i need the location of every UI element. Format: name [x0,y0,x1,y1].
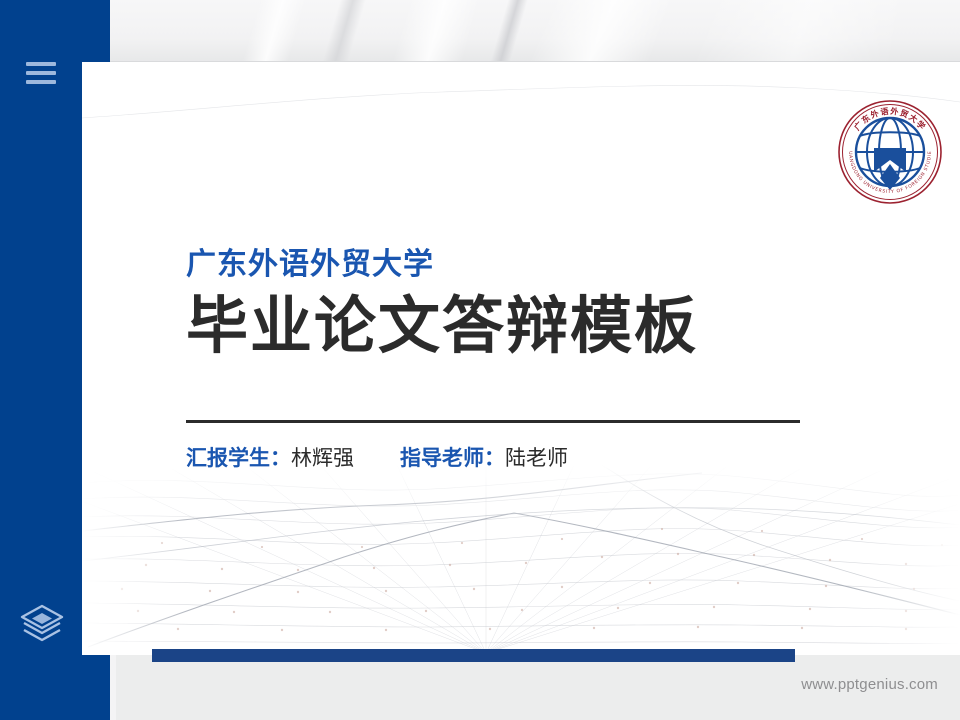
hamburger-bar [26,71,56,75]
wireframe-mesh-decoration [82,465,960,655]
hamburger-bar [26,62,56,66]
layers-stack-icon[interactable] [18,602,66,646]
student-name: 林辉强 [291,446,354,470]
bottom-accent-bar [152,649,795,662]
student-label: 汇报学生： [186,446,291,470]
footer-url: www.pptgenius.com [801,676,938,693]
page-title: 毕业论文答辩模板 [186,291,886,360]
advisor-name: 陆老师 [505,446,568,470]
title-text-block: 广东外语外贸大学 毕业论文答辩模板 [186,248,886,360]
title-divider-rule [186,420,800,423]
advisor-label: 指导老师： [400,446,505,470]
wireframe-mesh-upper [82,62,960,128]
top-gradient-band [0,0,960,62]
university-name: 广东外语外贸大学 [186,248,886,283]
presenter-info: 汇报学生：林辉强指导老师：陆老师 [186,444,568,473]
hamburger-menu-icon[interactable] [26,62,56,86]
hamburger-bar [26,80,56,84]
university-logo: 广东外语外贸大学 GUANGDONG UNIVERSITY OF FOREIGN… [836,98,944,206]
slide-canvas: 广东外语外贸大学 GUANGDONG UNIVERSITY OF FOREIGN… [0,0,960,720]
